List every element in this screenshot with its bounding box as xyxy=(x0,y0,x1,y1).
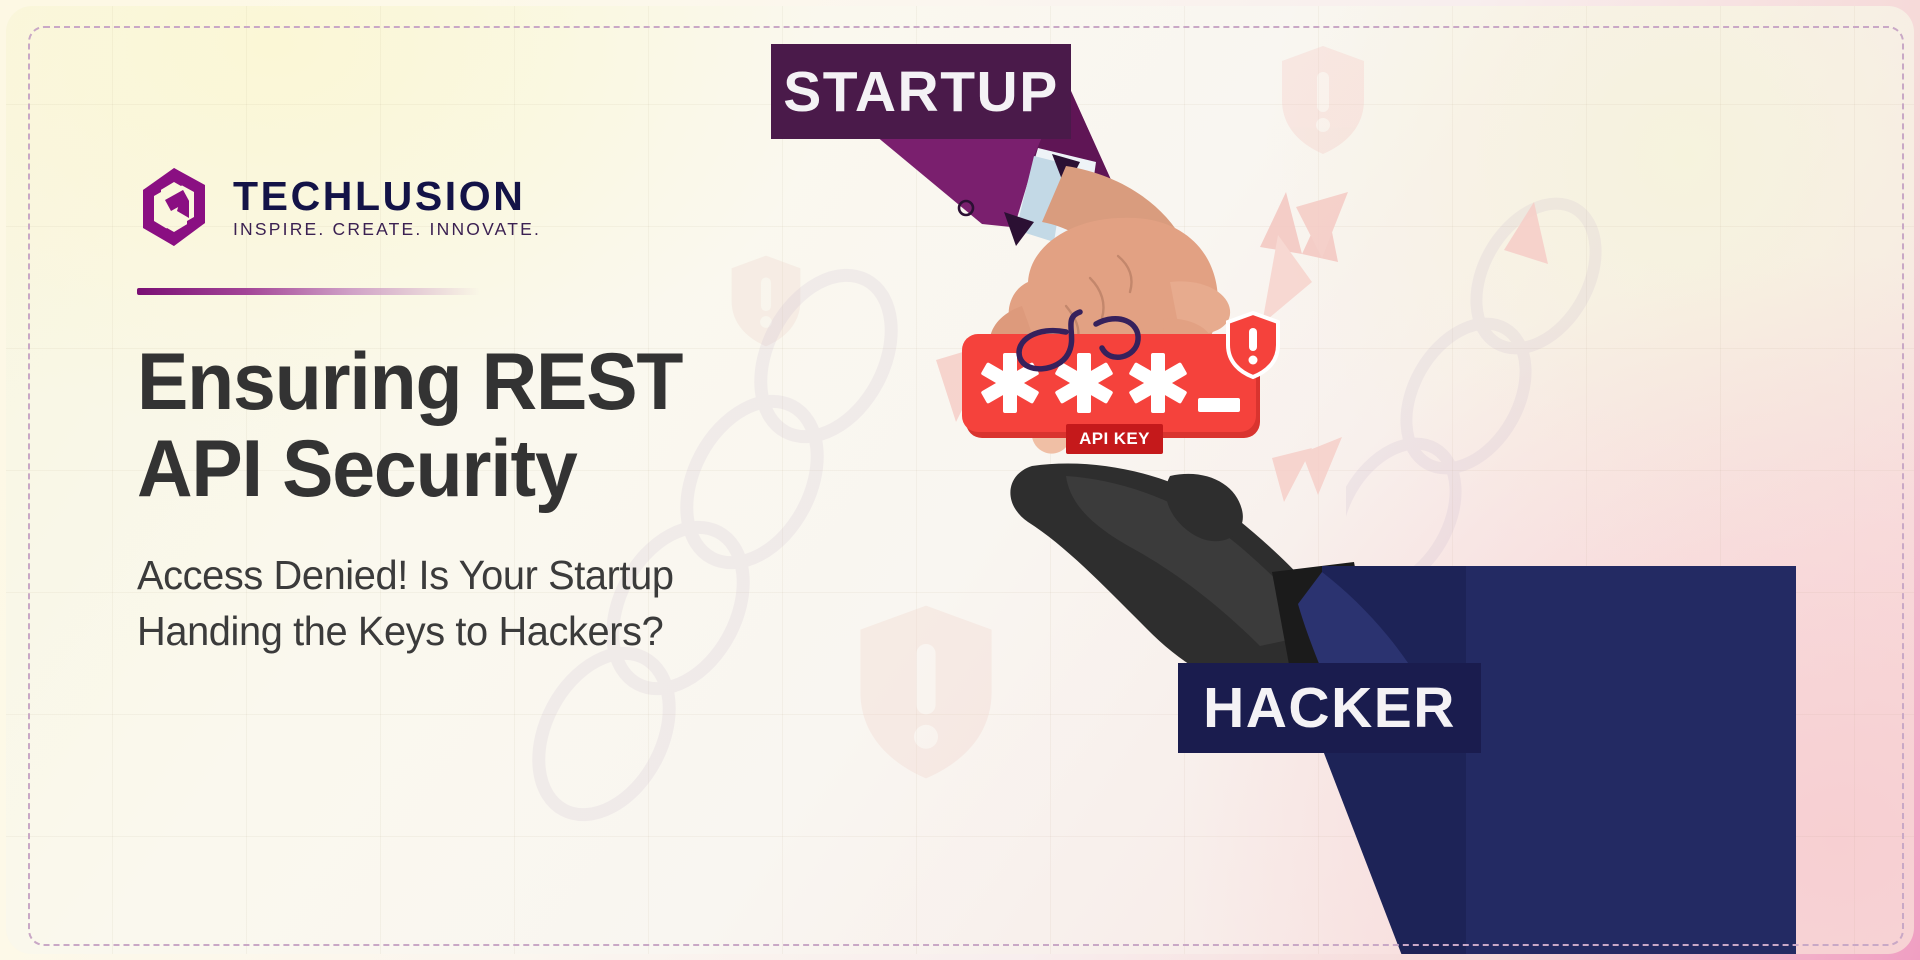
hacker-badge: HACKER xyxy=(1178,663,1481,753)
brand-logo[interactable]: TECHLUSION INSPIRE. CREATE. INNOVATE. xyxy=(137,166,897,248)
brand-name: TECHLUSION xyxy=(233,176,541,217)
illustration-svg xyxy=(766,6,1914,954)
banner-card: TECHLUSION INSPIRE. CREATE. INNOVATE. En… xyxy=(6,6,1914,954)
brand-text: TECHLUSION INSPIRE. CREATE. INNOVATE. xyxy=(233,176,541,239)
hexagon-swirl-logo-icon xyxy=(137,166,211,248)
warning-shield-icon xyxy=(1228,313,1278,377)
subhead-line-2: Handing the Keys to Hackers? xyxy=(137,604,874,659)
headline-line-2: API Security xyxy=(137,426,859,513)
subhead-line-1: Access Denied! Is Your Startup xyxy=(137,548,874,603)
gradient-divider xyxy=(137,288,480,295)
page-subtitle: Access Denied! Is Your Startup Handing t… xyxy=(137,548,874,659)
left-content: TECHLUSION INSPIRE. CREATE. INNOVATE. En… xyxy=(137,166,897,659)
brand-tagline: INSPIRE. CREATE. INNOVATE. xyxy=(233,221,541,239)
page-title: Ensuring REST API Security xyxy=(137,339,859,512)
api-key-label: API KEY xyxy=(1066,424,1163,454)
banner-canvas: TECHLUSION INSPIRE. CREATE. INNOVATE. En… xyxy=(0,0,1920,960)
startup-badge: STARTUP xyxy=(771,44,1071,139)
illustration xyxy=(766,6,1914,954)
headline-line-1: Ensuring REST xyxy=(137,339,859,426)
